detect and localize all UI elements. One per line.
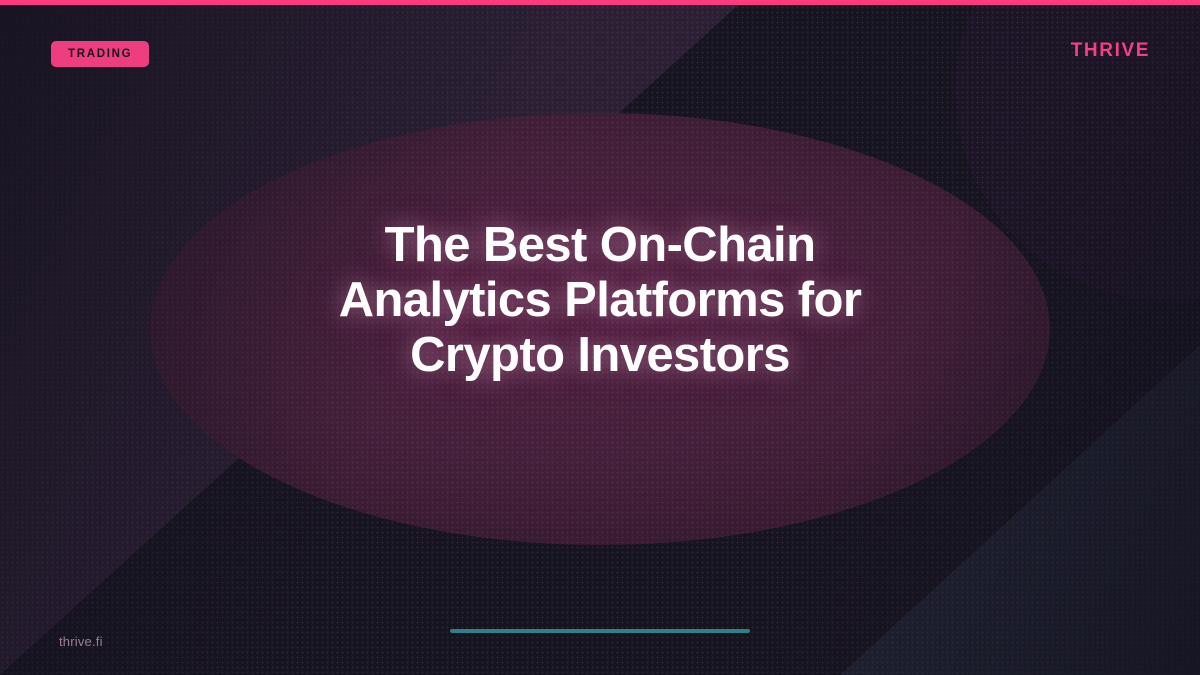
title-line-2: Analytics Platforms for <box>0 273 1200 328</box>
category-badge: TRADING <box>51 41 149 67</box>
page-title: The Best On-Chain Analytics Platforms fo… <box>0 218 1200 383</box>
accent-rule-teal <box>450 629 750 633</box>
site-url: thrive.fi <box>59 634 103 649</box>
top-accent-bar <box>0 0 1200 5</box>
brand-logo: THRIVE <box>1071 40 1150 62</box>
title-line-3: Crypto Investors <box>0 328 1200 383</box>
slide-canvas: TRADING THRIVE The Best On-Chain Analyti… <box>0 0 1200 675</box>
title-line-1: The Best On-Chain <box>0 218 1200 273</box>
